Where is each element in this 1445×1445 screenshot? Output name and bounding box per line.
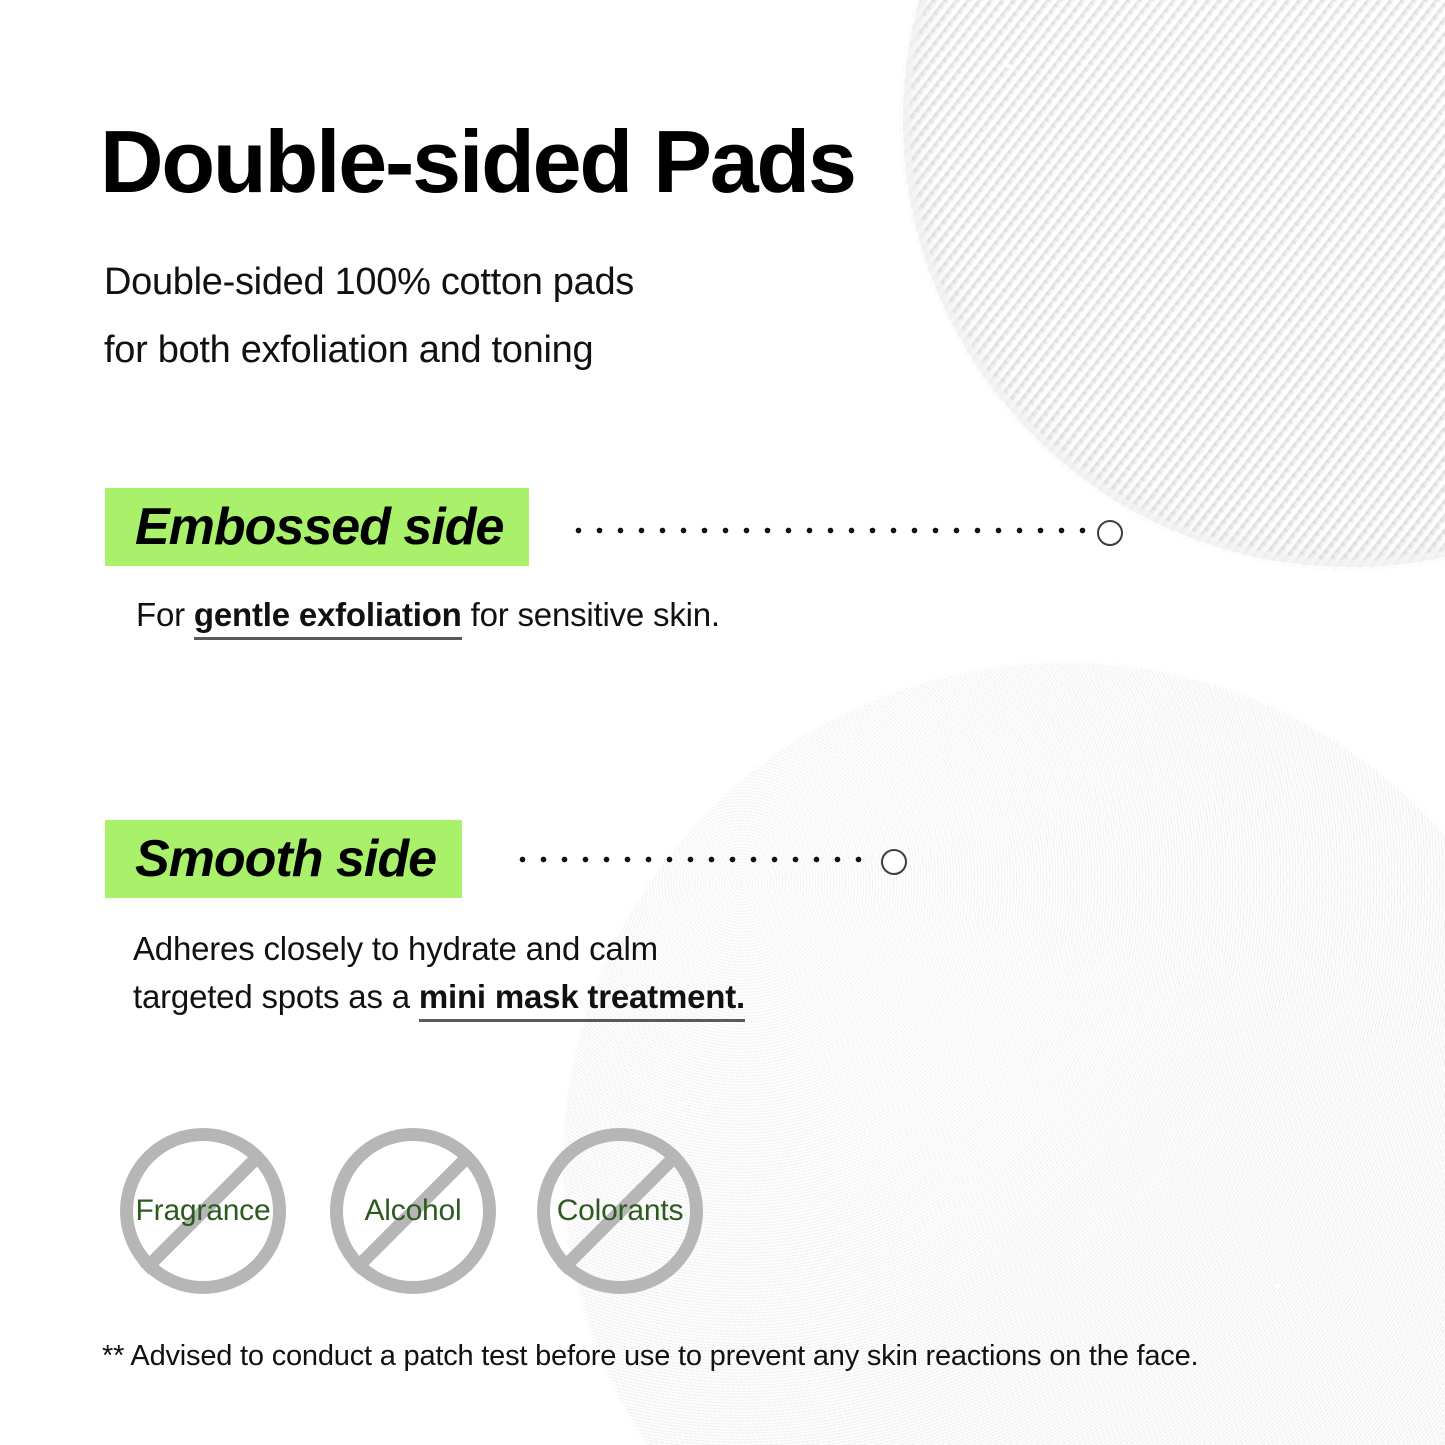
leader-line-embossed bbox=[568, 527, 1086, 534]
badge-label: Fragrance bbox=[136, 1194, 271, 1228]
footnote-disclaimer: ** Advised to conduct a patch test befor… bbox=[102, 1340, 1198, 1373]
description-embossed-side: For gentle exfoliation for sensitive ski… bbox=[136, 591, 720, 639]
badge-alcohol: Alcohol bbox=[330, 1128, 496, 1294]
desc-line-2: targeted spots as a mini mask treatment. bbox=[133, 973, 745, 1021]
label-smooth-side: Smooth side bbox=[105, 820, 462, 898]
cotton-pad-smooth-image bbox=[560, 660, 1445, 1445]
desc-prefix: For bbox=[136, 596, 194, 633]
cotton-pad-embossed-image bbox=[900, 0, 1445, 570]
product-infographic: Double-sided Pads Double-sided 100% cott… bbox=[0, 0, 1445, 1445]
desc-suffix: for sensitive skin. bbox=[462, 596, 720, 633]
subtitle-line-2: for both exfoliation and toning bbox=[104, 316, 634, 384]
description-smooth-side: Adheres closely to hydrate and calm targ… bbox=[133, 925, 745, 1021]
pad-rim bbox=[900, 0, 1445, 570]
subtitle-line-1: Double-sided 100% cotton pads bbox=[104, 248, 634, 316]
leader-dot-circle-icon bbox=[881, 849, 907, 875]
leader-line-smooth bbox=[512, 856, 870, 863]
desc-prefix: targeted spots as a bbox=[133, 978, 419, 1015]
badge-fragrance: Fragrance bbox=[120, 1128, 286, 1294]
page-subtitle: Double-sided 100% cotton pads for both e… bbox=[104, 248, 634, 384]
badge-label: Alcohol bbox=[365, 1194, 462, 1228]
leader-dot-circle-icon bbox=[1097, 520, 1123, 546]
pad-rim bbox=[560, 660, 1445, 1445]
desc-emphasis: mini mask treatment. bbox=[419, 978, 745, 1022]
desc-emphasis: gentle exfoliation bbox=[194, 596, 462, 640]
badge-label: Colorants bbox=[557, 1194, 684, 1228]
badge-colorants: Colorants bbox=[537, 1128, 703, 1294]
label-embossed-side: Embossed side bbox=[105, 488, 529, 566]
page-title: Double-sided Pads bbox=[100, 118, 855, 206]
desc-line-1: Adheres closely to hydrate and calm bbox=[133, 925, 745, 973]
